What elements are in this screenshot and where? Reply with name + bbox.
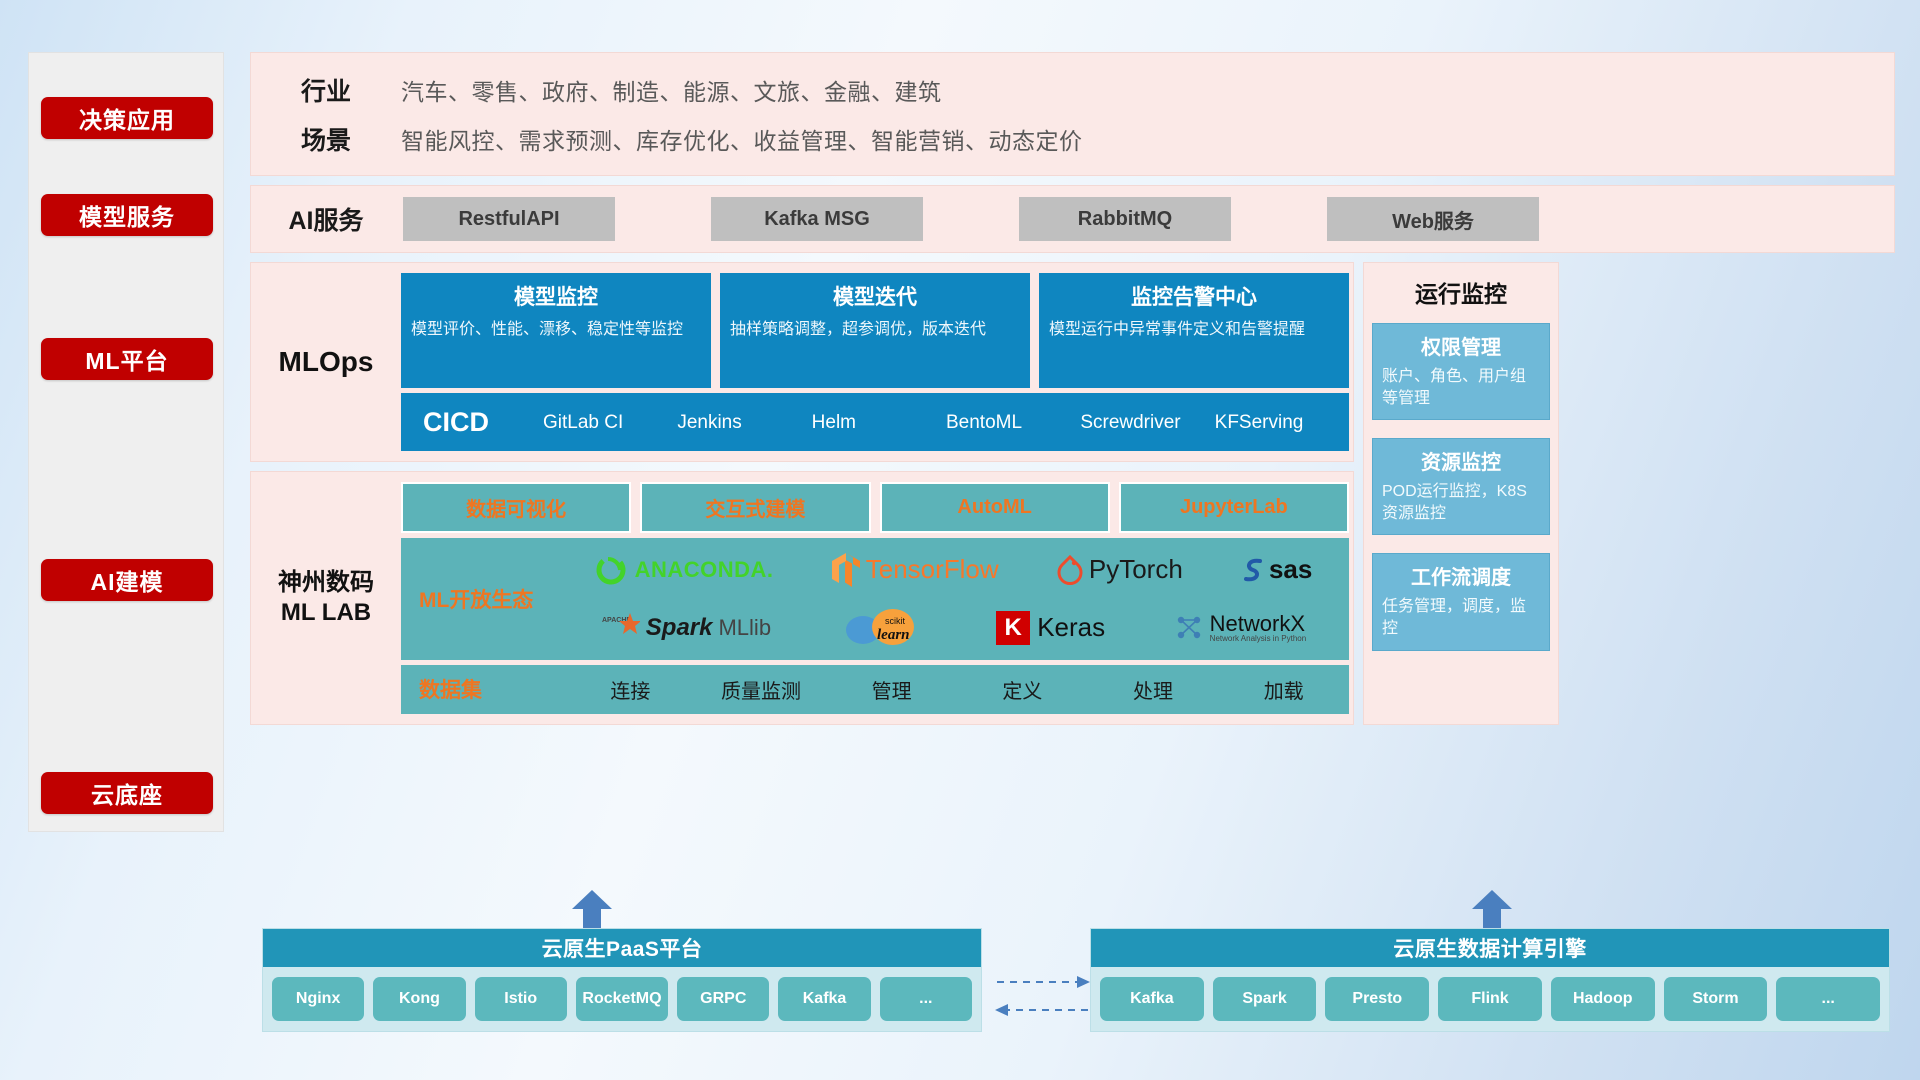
dataset-label: 数据集: [419, 674, 565, 704]
ai-service-box-group: RestfulAPI Kafka MSG RabbitMQ Web服务: [401, 197, 1539, 241]
ai-service-box-rabbitmq[interactable]: RabbitMQ: [1019, 197, 1231, 241]
mllib-label: MLlib: [718, 615, 771, 641]
ai-service-box-web-service[interactable]: Web服务: [1327, 197, 1539, 241]
cicd-item-screwdriver[interactable]: Screwdriver: [1080, 413, 1214, 432]
tool-chip-automl[interactable]: AutoML: [880, 482, 1110, 533]
data-pill-spark[interactable]: Spark: [1213, 977, 1317, 1021]
data-pill-storm[interactable]: Storm: [1664, 977, 1768, 1021]
monitor-card-workflow[interactable]: 工作流调度 任务管理，调度，监控: [1372, 553, 1550, 650]
paas-pill-group: Nginx Kong Istio RocketMQ GRPC Kafka ...: [263, 967, 981, 1031]
mlops-card-model-monitoring[interactable]: 模型监控 模型评价、性能、漂移、稳定性等监控: [401, 273, 711, 388]
paas-pill-kafka[interactable]: Kafka: [778, 977, 870, 1021]
ai-service-box-kafka-msg[interactable]: Kafka MSG: [711, 197, 923, 241]
data-pill-kafka[interactable]: Kafka: [1100, 977, 1204, 1021]
cicd-item-bentoml[interactable]: BentoML: [946, 413, 1080, 432]
paas-stack: 云原生PaaS平台 Nginx Kong Istio RocketMQ GRPC…: [262, 928, 982, 1032]
data-engine-stack: 云原生数据计算引擎 Kafka Spark Presto Flink Hadoo…: [1090, 928, 1890, 1032]
rail-chip-model-service[interactable]: 模型服务: [41, 194, 213, 236]
card-title: 模型监控: [411, 281, 701, 311]
bidirectional-dashed-link-icon: [995, 970, 1090, 1020]
ai-modeling-band: 神州数码 ML LAB 数据可视化 交互式建模 AutoML JupyterLa…: [250, 471, 1354, 725]
card-desc: 模型运行中异常事件定义和告警提醒: [1049, 319, 1339, 341]
architecture-main: 行业 汽车、零售、政府、制造、能源、文旅、金融、建筑 场景 智能风控、需求预测、…: [250, 52, 1895, 725]
sas-icon: [1240, 555, 1266, 585]
tensorflow-icon: [831, 551, 861, 589]
svg-text:learn: learn: [877, 627, 910, 643]
industry-values: 汽车、零售、政府、制造、能源、文旅、金融、建筑: [401, 73, 942, 107]
mlops-label: MLOps: [251, 273, 401, 451]
pytorch-icon: [1056, 554, 1084, 586]
anaconda-label: ANACONDA.: [635, 557, 774, 583]
card-title: 工作流调度: [1382, 561, 1540, 590]
paas-pill-nginx[interactable]: Nginx: [272, 977, 364, 1021]
tool-chip-interactive-modeling[interactable]: 交互式建模: [640, 482, 870, 533]
mlops-body: 模型监控 模型评价、性能、漂移、稳定性等监控 模型迭代 抽样策略调整，超参调优，…: [401, 273, 1353, 451]
card-title: 监控告警中心: [1049, 281, 1339, 311]
runtime-monitor-card-group: 权限管理 账户、角色、用户组等管理 资源监控 POD运行监控，K8S资源监控 工…: [1372, 323, 1550, 651]
data-pill-flink[interactable]: Flink: [1438, 977, 1542, 1021]
data-pill-presto[interactable]: Presto: [1325, 977, 1429, 1021]
layer-rail: 决策应用 模型服务 ML平台 AI建模 云底座: [28, 52, 224, 832]
dataset-item-group: 连接 质量监测 管理 定义 处理 加载: [565, 675, 1349, 704]
cicd-item-kfserving[interactable]: KFServing: [1215, 413, 1349, 432]
networkx-tagline: Network Analysis in Python: [1210, 635, 1307, 643]
dataset-item-quality[interactable]: 质量监测: [696, 675, 827, 704]
mid-right-column: 运行监控 权限管理 账户、角色、用户组等管理 资源监控 POD运行监控，K8S资…: [1363, 262, 1559, 725]
paas-pill-grpc[interactable]: GRPC: [677, 977, 769, 1021]
card-desc: POD运行监控，K8S资源监控: [1382, 481, 1540, 524]
networkx-label: NetworkX: [1210, 613, 1307, 635]
monitor-card-permission[interactable]: 权限管理 账户、角色、用户组等管理: [1372, 323, 1550, 420]
ai-service-box-restfulapi[interactable]: RestfulAPI: [403, 197, 615, 241]
anaconda-icon: [594, 553, 628, 587]
data-engine-pill-group: Kafka Spark Presto Flink Hadoop Storm ..…: [1091, 967, 1889, 1031]
ml-lab-label-line2: ML LAB: [281, 598, 371, 628]
cicd-bar: CICD GitLab CI Jenkins Helm BentoML Scre…: [401, 393, 1349, 451]
card-desc: 任务管理，调度，监控: [1382, 596, 1540, 639]
mlops-band: MLOps 模型监控 模型评价、性能、漂移、稳定性等监控 模型迭代 抽样策略调整…: [250, 262, 1354, 462]
cicd-label: CICD: [423, 407, 543, 438]
pytorch-label: PyTorch: [1089, 554, 1183, 585]
paas-pill-more[interactable]: ...: [880, 977, 972, 1021]
rail-chip-ai-modeling[interactable]: AI建模: [41, 559, 213, 601]
runtime-monitor-band: 运行监控 权限管理 账户、角色、用户组等管理 资源监控 POD运行监控，K8S资…: [1363, 262, 1559, 725]
runtime-monitor-title: 运行监控: [1372, 275, 1550, 309]
card-desc: 抽样策略调整，超参调优，版本迭代: [730, 319, 1020, 341]
cloud-base-zone: 云原生PaaS平台 Nginx Kong Istio RocketMQ GRPC…: [250, 890, 1895, 1040]
cicd-item-helm[interactable]: Helm: [812, 413, 946, 432]
anaconda-logo: ANACONDA.: [594, 553, 774, 587]
tool-chip-jupyterlab[interactable]: JupyterLab: [1119, 482, 1349, 533]
industry-label: 行业: [251, 72, 401, 108]
spark-icon: APACHE: [600, 611, 640, 645]
dataset-item-process[interactable]: 处理: [1088, 675, 1219, 704]
card-desc: 账户、角色、用户组等管理: [1382, 366, 1540, 409]
ai-modeling-body: 数据可视化 交互式建模 AutoML JupyterLab ML开放生态: [401, 482, 1353, 714]
ai-service-label: AI服务: [251, 201, 401, 237]
rail-chip-cloud-base[interactable]: 云底座: [41, 772, 213, 814]
networkx-logo: NetworkX Network Analysis in Python: [1175, 613, 1307, 643]
keras-icon: K: [996, 611, 1030, 645]
paas-pill-istio[interactable]: Istio: [475, 977, 567, 1021]
tensorflow-logo: TensorFlow: [831, 551, 999, 589]
up-arrow-data-icon: [1470, 890, 1514, 930]
ml-ecosystem-logo-row-2: APACHE Spark MLlib: [565, 600, 1341, 656]
scenario-values: 智能风控、需求预测、库存优化、收益管理、智能营销、动态定价: [401, 122, 1083, 156]
scikit-learn-icon: scikit learn: [841, 606, 927, 650]
ml-ecosystem-row: ML开放生态 ANACONDA.: [401, 538, 1349, 660]
mlops-card-group: 模型监控 模型评价、性能、漂移、稳定性等监控 模型迭代 抽样策略调整，超参调优，…: [401, 273, 1349, 388]
paas-stack-title: 云原生PaaS平台: [263, 929, 981, 967]
monitor-card-resource[interactable]: 资源监控 POD运行监控，K8S资源监控: [1372, 438, 1550, 535]
dataset-item-manage[interactable]: 管理: [826, 675, 957, 704]
card-title: 资源监控: [1382, 446, 1540, 475]
data-pill-more[interactable]: ...: [1776, 977, 1880, 1021]
mlops-card-alert-center[interactable]: 监控告警中心 模型运行中异常事件定义和告警提醒: [1039, 273, 1349, 388]
decision-app-band: 行业 汽车、零售、政府、制造、能源、文旅、金融、建筑 场景 智能风控、需求预测、…: [250, 52, 1895, 176]
card-title: 权限管理: [1382, 331, 1540, 360]
ml-ecosystem-logos: ANACONDA. TensorFlow: [565, 542, 1341, 656]
spark-label: Spark: [646, 614, 713, 642]
cicd-item-group: GitLab CI Jenkins Helm BentoML Screwdriv…: [543, 413, 1349, 432]
scenario-label: 场景: [251, 121, 401, 157]
cicd-item-gitlab-ci[interactable]: GitLab CI: [543, 413, 677, 432]
dataset-item-define[interactable]: 定义: [957, 675, 1088, 704]
industry-row: 行业 汽车、零售、政府、制造、能源、文旅、金融、建筑: [251, 65, 1894, 114]
sas-logo: sas: [1240, 554, 1312, 585]
keras-logo: K Keras: [996, 611, 1105, 645]
card-title: 模型迭代: [730, 281, 1020, 311]
ml-lab-label-line1: 神州数码: [278, 568, 374, 598]
ml-lab-label: 神州数码 ML LAB: [251, 482, 401, 714]
sas-label: sas: [1269, 554, 1312, 585]
pytorch-logo: PyTorch: [1056, 554, 1183, 586]
rail-chip-ml-platform[interactable]: ML平台: [41, 338, 213, 380]
tool-chip-group: 数据可视化 交互式建模 AutoML JupyterLab: [401, 482, 1349, 533]
rail-chip-decision-app[interactable]: 决策应用: [41, 97, 213, 139]
paas-pill-rocketmq[interactable]: RocketMQ: [576, 977, 668, 1021]
card-desc: 模型评价、性能、漂移、稳定性等监控: [411, 319, 701, 341]
paas-pill-kong[interactable]: Kong: [373, 977, 465, 1021]
spark-mllib-logo: APACHE Spark MLlib: [600, 611, 771, 645]
dataset-item-load[interactable]: 加载: [1218, 675, 1349, 704]
dataset-item-connect[interactable]: 连接: [565, 675, 696, 704]
ai-service-band: AI服务 RestfulAPI Kafka MSG RabbitMQ Web服务: [250, 185, 1895, 253]
mlops-card-model-iteration[interactable]: 模型迭代 抽样策略调整，超参调优，版本迭代: [720, 273, 1030, 388]
cicd-item-jenkins[interactable]: Jenkins: [677, 413, 811, 432]
scenario-row: 场景 智能风控、需求预测、库存优化、收益管理、智能营销、动态定价: [251, 114, 1894, 163]
scikit-learn-logo: scikit learn: [841, 606, 927, 650]
tool-chip-data-visualization[interactable]: 数据可视化: [401, 482, 631, 533]
keras-label: Keras: [1037, 612, 1105, 643]
ml-ecosystem-logo-row-1: ANACONDA. TensorFlow: [565, 542, 1341, 598]
ml-ecosystem-label: ML开放生态: [419, 584, 565, 614]
up-arrow-paas-icon: [570, 890, 614, 930]
svg-text:scikit: scikit: [885, 616, 905, 626]
mid-zone: MLOps 模型监控 模型评价、性能、漂移、稳定性等监控 模型迭代 抽样策略调整…: [250, 262, 1895, 725]
mid-left-column: MLOps 模型监控 模型评价、性能、漂移、稳定性等监控 模型迭代 抽样策略调整…: [250, 262, 1354, 725]
networkx-icon: [1175, 613, 1205, 643]
data-engine-stack-title: 云原生数据计算引擎: [1091, 929, 1889, 967]
dataset-row: 数据集 连接 质量监测 管理 定义 处理 加载: [401, 665, 1349, 714]
tensorflow-label: TensorFlow: [866, 554, 999, 585]
data-pill-hadoop[interactable]: Hadoop: [1551, 977, 1655, 1021]
